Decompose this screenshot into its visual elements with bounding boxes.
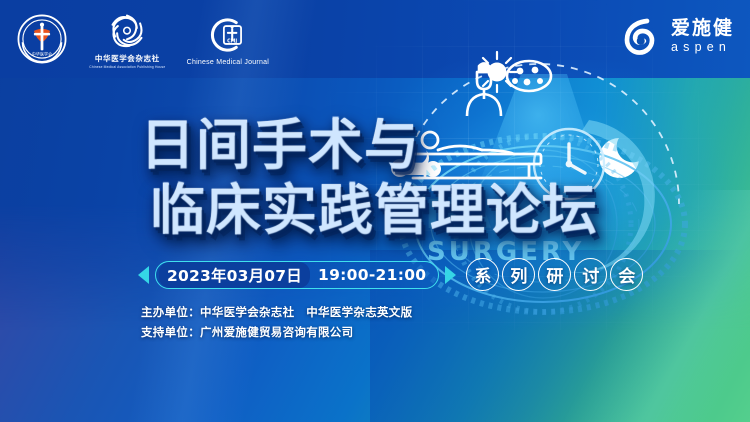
- publishing-house-name-en: Chinese Medical Association Publishing H…: [89, 65, 165, 69]
- publishing-house-flower-icon: [106, 9, 148, 51]
- datetime-pill: 2023年03月07日 19:00-21:00: [155, 261, 439, 289]
- logo-chinese-medical-association: 中华医学会: [16, 13, 68, 65]
- cmj-mark-text: CMJ: [227, 38, 237, 44]
- cma-emblem-icon: 中华医学会: [16, 13, 68, 65]
- supporter-line: 支持单位：广州爱施健贸易咨询有限公司: [141, 322, 412, 342]
- series-char: 讨: [574, 258, 607, 291]
- event-date: 2023年03月07日: [159, 262, 310, 288]
- left-triangle-marker-icon: [138, 266, 149, 284]
- page-title-line-1: 日间手术与: [140, 118, 598, 173]
- credits-block: 主办单位：中华医学会杂志社 中华医学杂志英文版 支持单位：广州爱施健贸易咨询有限…: [141, 302, 412, 342]
- series-char: 列: [502, 258, 535, 291]
- page-title-line-2: 临床实践管理论坛: [150, 183, 598, 238]
- poster-title-group: 日间手术与 临床实践管理论坛: [140, 118, 598, 238]
- series-label-group: 系 列 研 讨 会: [466, 258, 643, 291]
- cmj-name-en: Chinese Medical Journal: [187, 59, 269, 66]
- logo-cma-publishing-house: 中华医学会杂志社 Chinese Medical Association Pub…: [86, 9, 169, 70]
- series-char: 研: [538, 258, 571, 291]
- event-poster: 中华医学会 中华医学会杂志社 Chinese Medical Associati…: [0, 0, 750, 422]
- logo-chinese-medical-journal: CMJ Chinese Medical Journal: [187, 13, 269, 66]
- right-triangle-marker-icon: [445, 266, 456, 284]
- organizer-line: 主办单位：中华医学会杂志社 中华医学杂志英文版: [141, 302, 412, 322]
- event-time: 19:00-21:00: [310, 266, 435, 284]
- event-datetime-row: 2023年03月07日 19:00-21:00 系 列 研 讨 会: [138, 258, 643, 291]
- cmj-emblem-icon: CMJ: [206, 13, 250, 57]
- series-char: 系: [466, 258, 499, 291]
- header-logo-group: 中华医学会 中华医学会杂志社 Chinese Medical Associati…: [16, 8, 269, 70]
- svg-text:中华医学会: 中华医学会: [32, 50, 52, 56]
- series-char: 会: [610, 258, 643, 291]
- publishing-house-name-cn: 中华医学会杂志社: [95, 53, 160, 64]
